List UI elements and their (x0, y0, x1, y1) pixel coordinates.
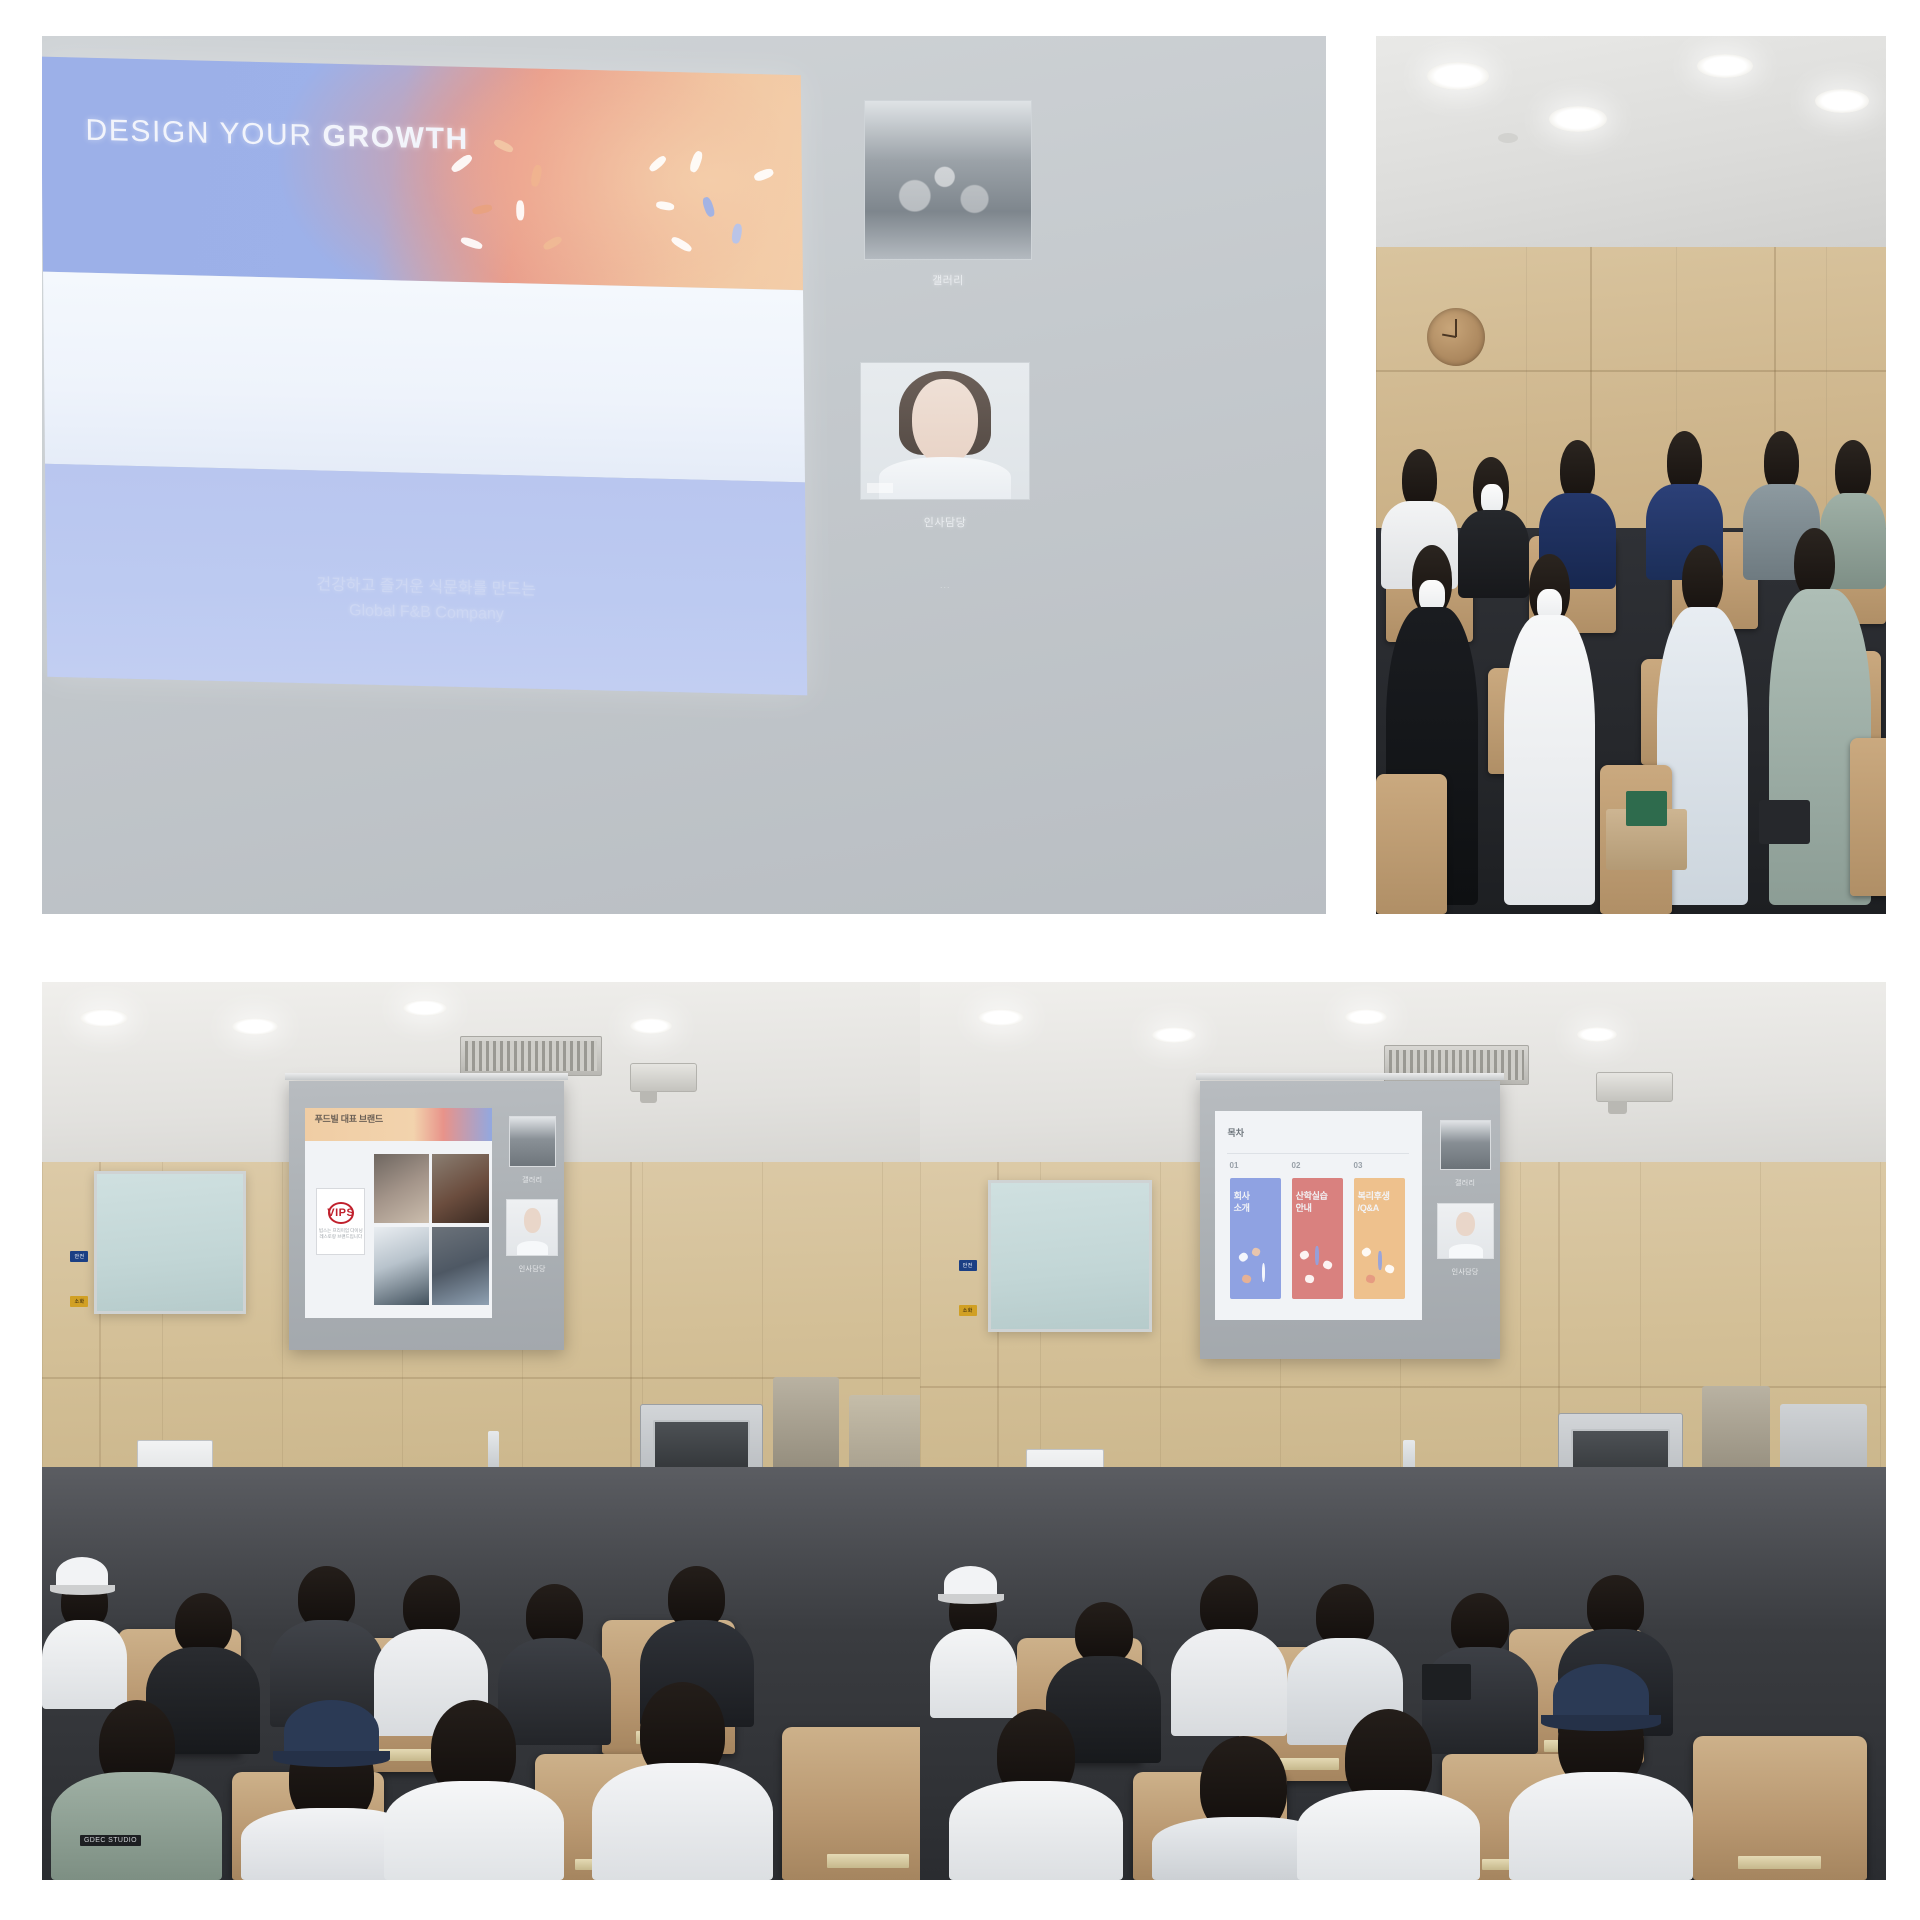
attendee-shoulders (949, 1781, 1123, 1880)
audience-scene (1376, 36, 1886, 914)
attendee-torso (1458, 510, 1529, 598)
lecture-hall-scene-1: 안전 소화 푸드빌 대표 브랜드 VIPS 빕스는 프리미엄 다이닝 레스토랑 … (42, 982, 991, 1880)
wall-clock-icon (1427, 308, 1485, 366)
downlight-icon (1152, 1027, 1196, 1043)
toc-number-02: 02 (1292, 1161, 1301, 1170)
ceiling-projector (630, 1063, 696, 1092)
smoke-detector-icon (1498, 133, 1518, 143)
projected-slide: 푸드빌 대표 브랜드 VIPS 빕스는 프리미엄 다이닝 레스토랑 브랜드입니다 (305, 1108, 492, 1318)
slide-header-band (42, 57, 803, 291)
attendee-shoulders (51, 1772, 222, 1880)
white-cap-icon (56, 1557, 108, 1593)
zoom-gallery-label: 갤러리 (864, 272, 1032, 288)
zoom-presenter-video (860, 362, 1030, 500)
zoom-gallery-label: 갤러리 (503, 1175, 561, 1185)
wall-sign: 안전 (959, 1260, 977, 1271)
zoom-presenter-video (506, 1199, 558, 1256)
camera (1759, 800, 1810, 844)
slide-title: 푸드빌 대표 브랜드 (315, 1112, 383, 1125)
toc-label-02: 산학실습 안내 (1296, 1190, 1328, 1214)
wall-seam (1376, 370, 1886, 372)
projection-screen: 푸드빌 대표 브랜드 VIPS 빕스는 프리미엄 다이닝 레스토랑 브랜드입니다 (289, 1081, 564, 1350)
toc-card-02: 산학실습 안내 (1292, 1178, 1344, 1299)
attendee-torso (1504, 615, 1596, 905)
vips-caption: 빕스는 프리미엄 다이닝 레스토랑 브랜드입니다 (319, 1228, 363, 1240)
downlight-icon (978, 1009, 1024, 1026)
slide-photo-store (432, 1227, 488, 1305)
downlight-icon (1815, 89, 1869, 113)
navy-cap-icon (284, 1700, 379, 1763)
slide-message-band: 잠시후, 14시부터 채용설명회가 시작됩니다. (43, 272, 805, 483)
projected-slide: 목차 01 회사 소개 02 (1215, 1111, 1422, 1320)
zoom-extra-label: ··· (860, 582, 1030, 592)
downlight-icon (403, 1000, 447, 1016)
slide-eyebrow-bold: GROWTH (322, 120, 469, 157)
slide-photo-beverages (374, 1227, 428, 1305)
downlight-icon (1697, 54, 1753, 78)
attendee-shoulders (42, 1620, 127, 1710)
screen-rail (1196, 1073, 1503, 1080)
attendee-shoulders (592, 1763, 772, 1880)
zoom-presenter-label: 인사담당 (860, 514, 1030, 530)
smartphone[interactable] (1422, 1664, 1470, 1700)
wall-seam (42, 1377, 991, 1379)
downlight-icon (630, 1018, 672, 1034)
attendee-head (1682, 545, 1723, 615)
navy-cap-icon (1553, 1664, 1650, 1727)
attendee-shoulders (930, 1629, 1017, 1719)
ceiling-air-vent (460, 1036, 602, 1076)
zoom-name-badge (867, 483, 893, 493)
projection-screen: 목차 01 회사 소개 02 (1200, 1081, 1499, 1359)
toc-number-03: 03 (1354, 1161, 1363, 1170)
zoom-gallery-thumbnail (1440, 1120, 1491, 1170)
attendee-shoulders (1422, 1647, 1538, 1755)
fire-extinguisher-sign: 소화 (959, 1305, 977, 1316)
toc-label-03: 복리후생 /Q&A (1358, 1190, 1390, 1214)
toc-label-01: 회사 소개 (1234, 1190, 1250, 1214)
photo-collage: 잠시후, 14시부터 채용설명회가 시작됩니다. DESIGN YOUR GRO… (0, 0, 1920, 1920)
attendee-shoulders (498, 1638, 612, 1746)
zoom-gallery-thumbnail (864, 100, 1032, 260)
downlight-icon (1345, 1009, 1387, 1025)
slide-photo-grill (432, 1154, 488, 1223)
ceiling-projector (1596, 1072, 1673, 1103)
green-pouch (1626, 791, 1667, 826)
attendee-shoulders (1509, 1772, 1693, 1880)
lecture-hall-scene-2: 안전 소화 목차 01 회사 소개 (920, 982, 1886, 1880)
attendee-shoulders (1171, 1629, 1287, 1737)
zoom-presenter-video (1437, 1203, 1494, 1259)
attendee-shoulders (384, 1781, 564, 1880)
presenter-shoulders (879, 457, 1011, 499)
whiteboard (94, 1171, 246, 1315)
panel-title-slide-photo: 잠시후, 14시부터 채용설명회가 시작됩니다. DESIGN YOUR GRO… (0, 0, 1356, 962)
seat-back (1850, 738, 1886, 896)
seat-back (1376, 774, 1447, 914)
slide-photo-salad-bar (374, 1154, 428, 1223)
presenter-face (524, 1208, 541, 1233)
toc-number-01: 01 (1230, 1161, 1239, 1170)
projection-wall: 잠시후, 14시부터 채용설명회가 시작됩니다. DESIGN YOUR GRO… (42, 36, 1326, 914)
vips-logo: VIPS (328, 1202, 354, 1224)
attendee-head (1794, 528, 1835, 598)
auditorium-chair (1693, 1736, 1867, 1880)
panel-audience-photo (1356, 0, 1920, 962)
toc-card-03: 복리후생 /Q&A (1354, 1178, 1406, 1299)
presenter-face (1456, 1212, 1475, 1237)
wall-sign: 안전 (70, 1251, 88, 1262)
toc-card-01: 회사 소개 (1230, 1178, 1282, 1299)
attendee-shoulders (1297, 1790, 1481, 1880)
screen-rail (285, 1073, 568, 1080)
zoom-presenter-label: 인사담당 (501, 1264, 564, 1274)
downlight-icon (80, 1009, 128, 1027)
whiteboard (988, 1180, 1152, 1333)
presenter-face (912, 379, 978, 465)
slide-eyebrow-light: DESIGN YOUR (85, 114, 322, 153)
zoom-gallery-label: 갤러리 (1434, 1178, 1497, 1188)
downlight-icon (232, 1018, 278, 1035)
presenter-shoulders (517, 1241, 548, 1255)
projected-slide: 잠시후, 14시부터 채용설명회가 시작됩니다. DESIGN YOUR GRO… (42, 57, 807, 696)
slide-divider (1227, 1153, 1409, 1154)
vips-logo-box: VIPS 빕스는 프리미엄 다이닝 레스토랑 브랜드입니다 (316, 1188, 365, 1255)
fire-extinguisher-sign: 소화 (70, 1296, 88, 1307)
slide-title: 목차 (1227, 1126, 1244, 1139)
white-cap-icon (944, 1566, 997, 1602)
downlight-icon (1577, 1027, 1617, 1042)
presenter-shoulders (1449, 1244, 1483, 1258)
zoom-gallery-thumbnail (509, 1116, 556, 1167)
zoom-presenter-label: 인사담당 (1431, 1267, 1500, 1277)
seat-sticker[interactable]: GDEC STUDIO (80, 1835, 141, 1846)
